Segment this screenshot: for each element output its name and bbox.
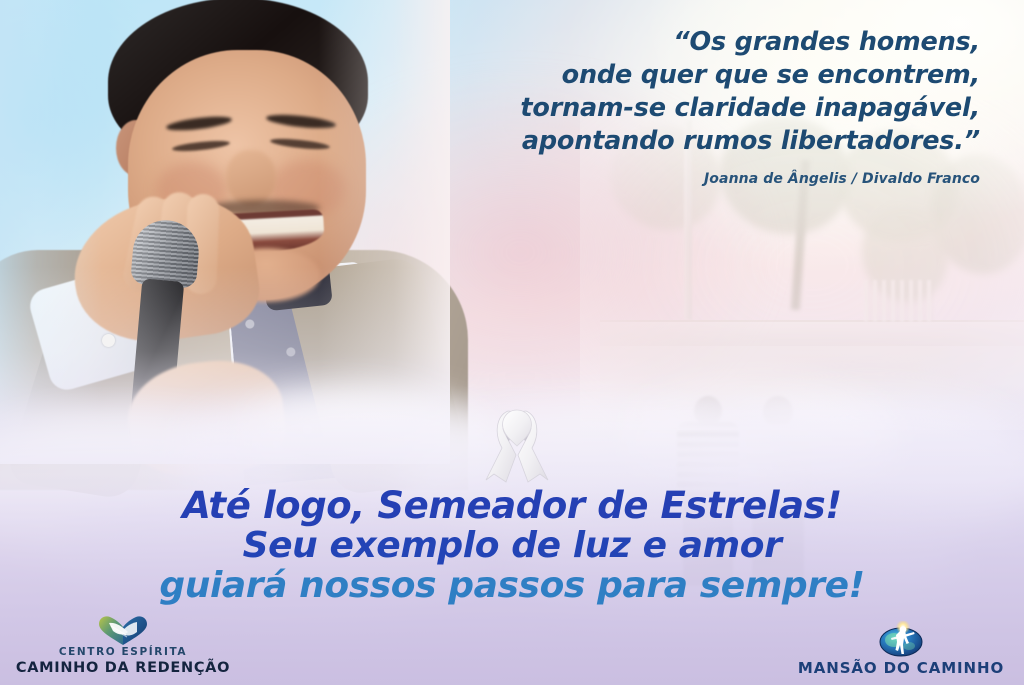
quote-line-3: tornam-se claridade inapagável,: [420, 92, 980, 125]
logo-centro-espirita-caminho-da-redencao[interactable]: CENTRO ESPÍRITA CAMINHO DA REDENÇÃO: [10, 614, 236, 677]
quote-block: “Os grandes homens, onde quer que se enc…: [420, 26, 980, 187]
quote-attribution: Joanna de Ângelis / Divaldo Franco: [420, 171, 980, 187]
hands-heart-icon: [96, 614, 150, 646]
headline-line-3: guiará nossos passos para sempre!: [0, 566, 1024, 606]
headline-line-1: Até logo, Semeador de Estrelas!: [0, 486, 1024, 526]
headline-line-2: Seu exemplo de luz e amor: [0, 526, 1024, 566]
memorial-poster: “Os grandes homens, onde quer que se enc…: [0, 0, 1024, 685]
quote-line-4: apontando rumos libertadores.”: [420, 125, 980, 158]
logo-mansao-do-caminho[interactable]: MANSÃO DO CAMINHO: [788, 621, 1014, 677]
ribbon-icon: [482, 408, 552, 486]
quote-line-2: onde quer que se encontrem,: [420, 59, 980, 92]
logo-left-line-2: CAMINHO DA REDENÇÃO: [10, 659, 236, 677]
mourning-ribbon: [482, 408, 552, 486]
quote-line-1: “Os grandes homens,: [420, 26, 980, 59]
globe-figure-icon: [876, 621, 926, 657]
logo-right-line-1: MANSÃO DO CAMINHO: [788, 659, 1014, 677]
headline-block: Até logo, Semeador de Estrelas! Seu exem…: [0, 486, 1024, 606]
logo-left-line-1: CENTRO ESPÍRITA: [10, 646, 236, 659]
